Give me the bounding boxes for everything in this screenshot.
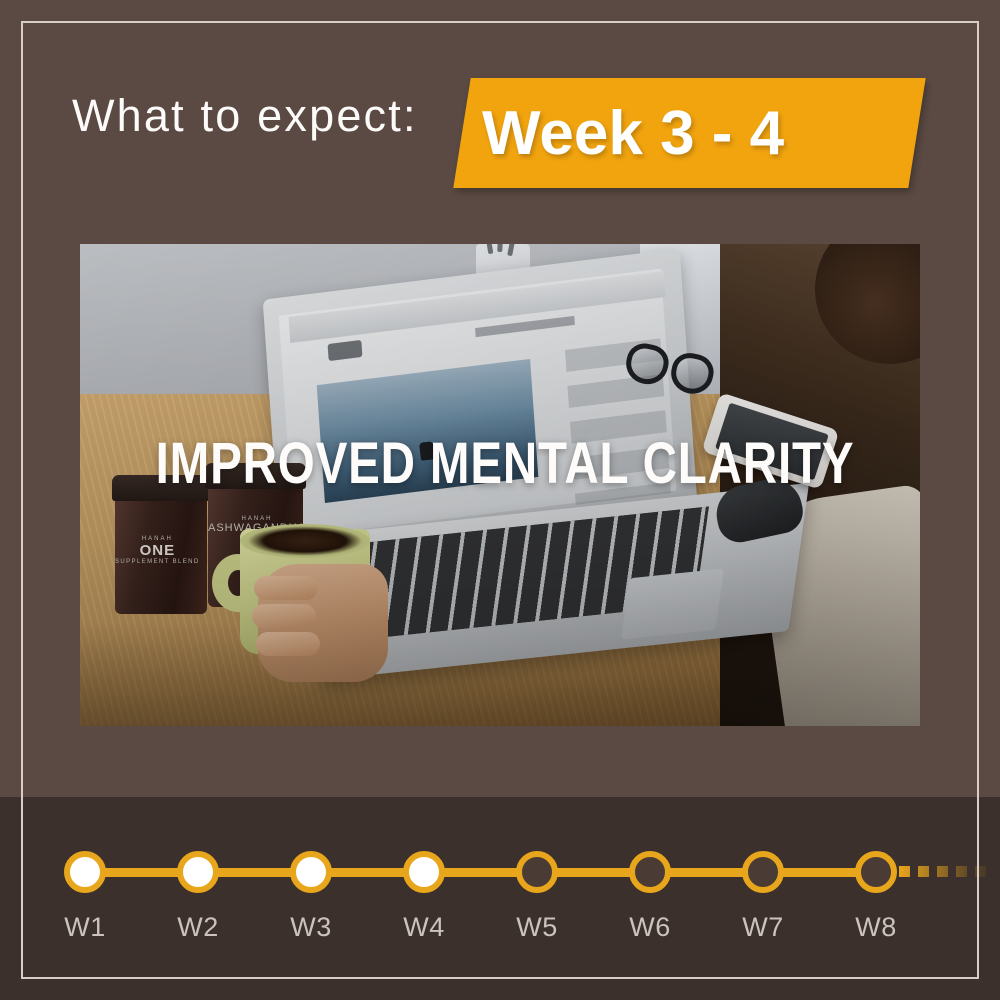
progress-node-w4[interactable] — [403, 851, 445, 893]
header: What to expect: Week 3 - 4 — [0, 60, 1000, 200]
photo-overlay-title: IMPROVED MENTAL CLARITY — [156, 430, 845, 497]
hero-photo: HANAH ONE SUPPLEMENT BLEND HANAH ASHWAGA… — [80, 244, 920, 726]
progress-node-w6[interactable] — [629, 851, 671, 893]
progress-label-w6: W6 — [615, 912, 685, 943]
progress-label-w1: W1 — [50, 912, 120, 943]
progress-bar-section — [0, 797, 1000, 1000]
progress-node-w1[interactable] — [64, 851, 106, 893]
progress-label-w3: W3 — [276, 912, 346, 943]
progress-label-w4: W4 — [389, 912, 459, 943]
progress-label-w8: W8 — [841, 912, 911, 943]
progress-node-w3[interactable] — [290, 851, 332, 893]
progress-node-w8[interactable] — [855, 851, 897, 893]
progress-label-w2: W2 — [163, 912, 233, 943]
week-banner-label: Week 3 - 4 — [482, 78, 902, 188]
page-title: What to expect: — [72, 90, 418, 142]
progress-node-w7[interactable] — [742, 851, 784, 893]
progress-node-w2[interactable] — [177, 851, 219, 893]
progress-node-w5[interactable] — [516, 851, 558, 893]
progress-label-w7: W7 — [728, 912, 798, 943]
progress-label-w5: W5 — [502, 912, 572, 943]
progress-continuation-dots — [899, 866, 1000, 877]
